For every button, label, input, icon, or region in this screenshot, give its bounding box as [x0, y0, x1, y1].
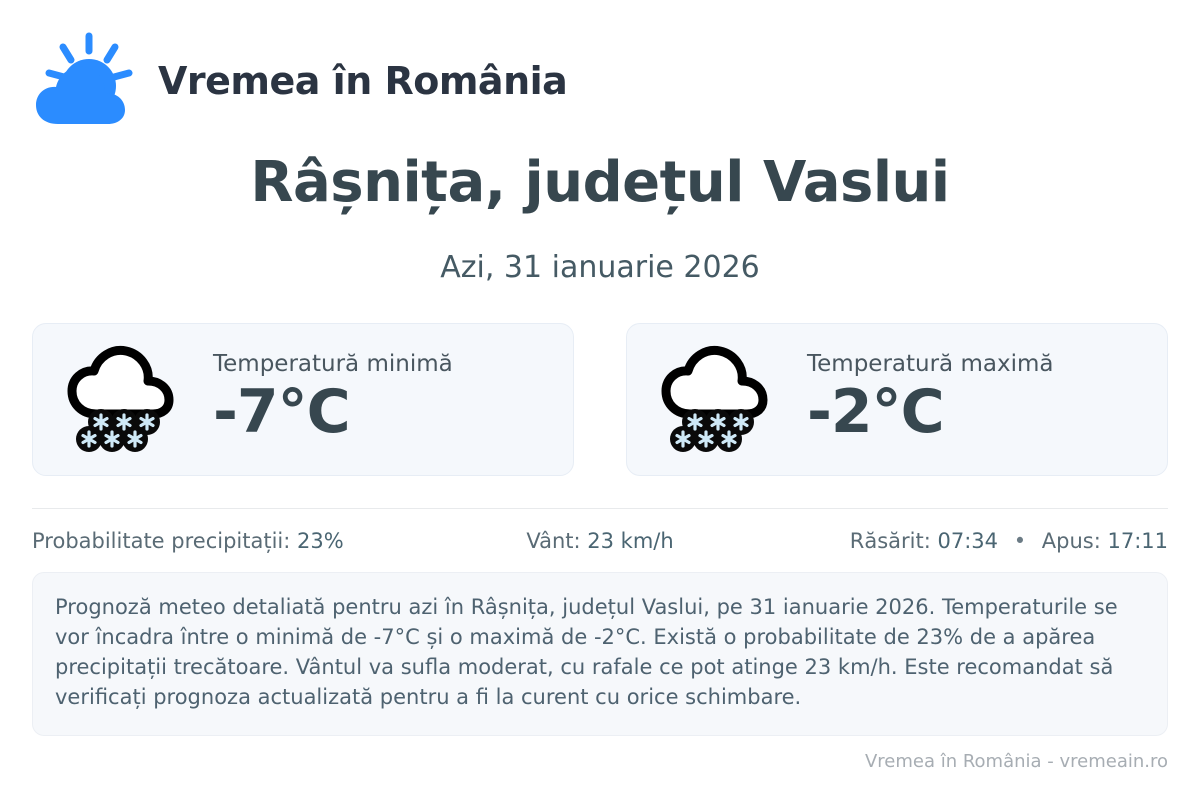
precipitation-value: 23%	[297, 529, 344, 553]
precipitation-label: Probabilitate precipitații:	[32, 529, 290, 553]
page-title: Râșnița, județul Vaslui	[32, 154, 1168, 213]
snow-cloud-icon	[657, 344, 781, 456]
stats-divider	[32, 508, 1168, 509]
sunset-value: 17:11	[1107, 529, 1168, 553]
sunrise-label: Răsărit:	[850, 529, 931, 553]
max-temperature-text: Temperatură maximă -2°C	[807, 351, 1053, 449]
wind-value: 23 km/h	[587, 529, 673, 553]
sunrise-value: 07:34	[937, 529, 998, 553]
sunset-label: Apus:	[1042, 529, 1101, 553]
min-temperature-text: Temperatură minimă -7°C	[213, 351, 453, 449]
forecast-description: Prognoză meteo detaliată pentru azi în R…	[32, 572, 1168, 735]
temperature-cards: Temperatură minimă -7°C	[32, 323, 1168, 476]
sun-behind-cloud-icon	[32, 32, 140, 132]
site-footer: Vremea în România - vremeain.ro	[865, 751, 1168, 772]
min-temperature-value: -7°C	[213, 380, 453, 445]
max-temperature-value: -2°C	[807, 380, 1053, 445]
page-subtitle: Azi, 31 ianuarie 2026	[32, 250, 1168, 285]
sun-times-separator: •	[1005, 529, 1035, 553]
min-temperature-card: Temperatură minimă -7°C	[32, 323, 574, 476]
min-temperature-label: Temperatură minimă	[213, 351, 453, 379]
max-temperature-label: Temperatură maximă	[807, 351, 1053, 379]
max-temperature-card: Temperatură maximă -2°C	[626, 323, 1168, 476]
weather-page: Vremea în România Râșnița, județul Vaslu…	[0, 0, 1200, 800]
sun-times-stat: Răsărit: 07:34 • Apus: 17:11	[789, 529, 1168, 553]
weather-stats-row: Probabilitate precipitații: 23% Vânt: 23…	[32, 526, 1168, 556]
snow-cloud-icon	[63, 344, 187, 456]
wind-label: Vânt:	[526, 529, 580, 553]
wind-stat: Vânt: 23 km/h	[411, 529, 790, 553]
precipitation-stat: Probabilitate precipitații: 23%	[32, 529, 411, 553]
site-header: Vremea în România	[32, 0, 1168, 118]
site-title: Vremea în România	[158, 61, 567, 102]
